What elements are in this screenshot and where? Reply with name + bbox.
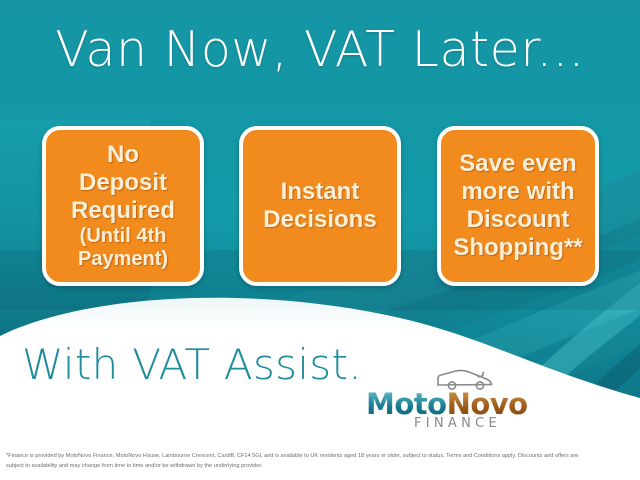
feature-box-instant-decisions: Instant Decisions (239, 126, 401, 286)
logo-wordmark: MotoNovo (366, 390, 528, 419)
feature-box-instant-decisions-text: Instant Decisions (257, 178, 382, 234)
promotional-banner: Van Now, VAT Later... No Deposit Require… (0, 0, 640, 480)
feature-line-1: Save even (459, 150, 576, 177)
feature-box-no-deposit: No Deposit Required (Until 4th Payment) (42, 126, 204, 286)
feature-sub: Shopping** (453, 234, 582, 261)
subtitle: With VAT Assist. (22, 340, 362, 389)
page-title: Van Now, VAT Later... (0, 24, 640, 75)
feature-box-no-deposit-text: No Deposit Required (Until 4th Payment) (46, 141, 200, 271)
feature-line-3: Discount (467, 206, 570, 233)
feature-box-discount-shopping-text: Save even more with Discount Shopping** (447, 150, 588, 261)
logo-subtitle: FINANCE (414, 416, 501, 431)
feature-box-discount-shopping: Save even more with Discount Shopping** (437, 126, 599, 286)
feature-line-1: Instant (281, 178, 360, 205)
disclaimer-text: *Finance is provided by MotoNovo Finance… (6, 452, 596, 472)
feature-line-1: No (107, 141, 139, 168)
feature-sub: (Until 4th Payment) (52, 225, 194, 271)
feature-line-3: Required (71, 197, 175, 224)
feature-line-2: Decisions (263, 206, 376, 233)
feature-line-2: Deposit (79, 169, 167, 196)
feature-line-2: more with (461, 178, 574, 205)
motonovo-logo: MotoNovo FINANCE (366, 368, 526, 430)
